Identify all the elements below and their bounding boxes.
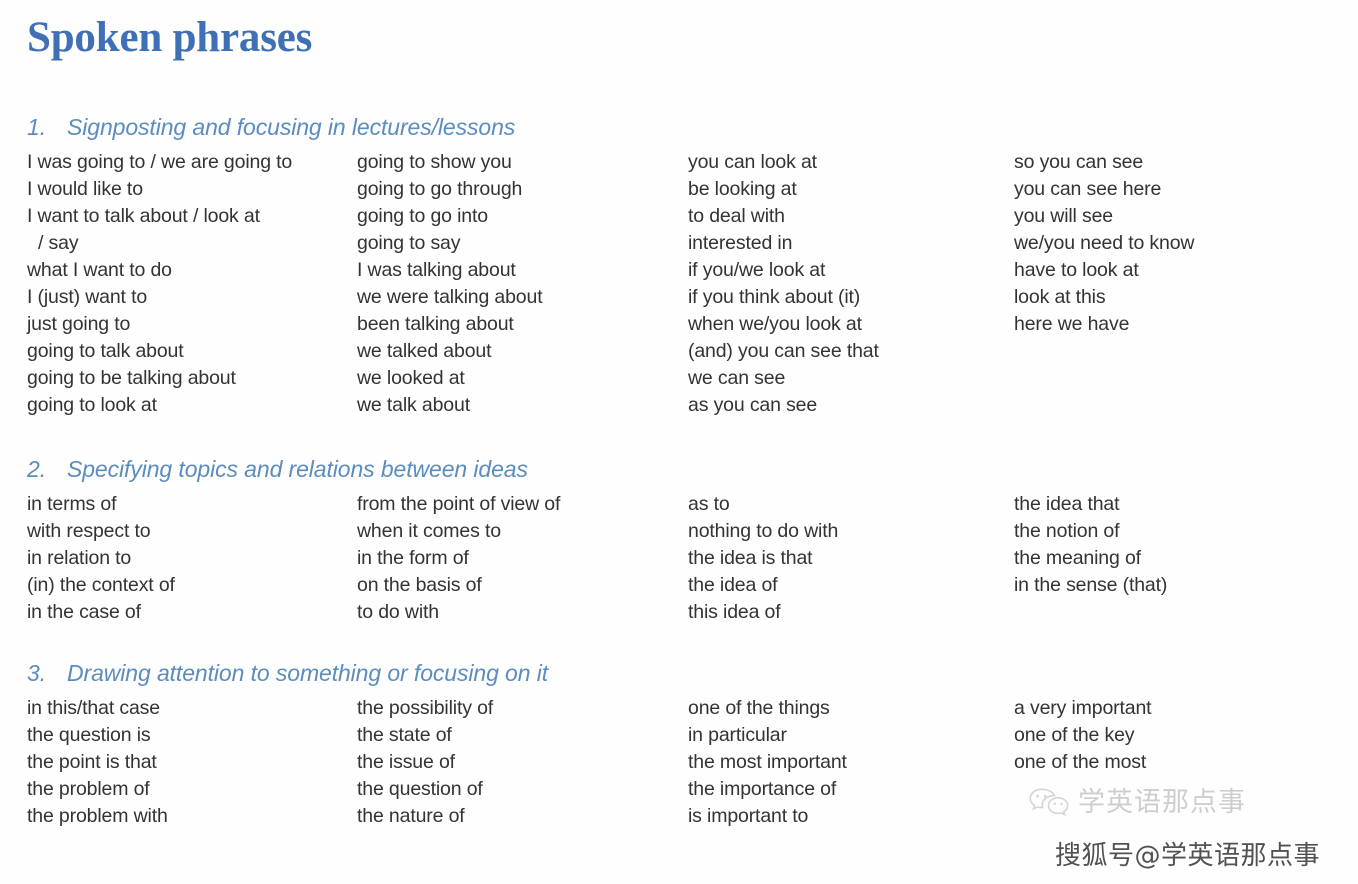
phrase-item: going to say xyxy=(357,230,542,257)
phrase-item: the issue of xyxy=(357,749,493,776)
phrase-column-1: in terms ofwith respect toin relation to… xyxy=(27,491,175,626)
phrase-item: the state of xyxy=(357,722,493,749)
phrase-item: the idea that xyxy=(1014,491,1167,518)
phrase-item: from the point of view of xyxy=(357,491,560,518)
phrase-item: the possibility of xyxy=(357,695,493,722)
phrase-column-3: as tonothing to do withthe idea is thatt… xyxy=(688,491,838,626)
phrase-item: in terms of xyxy=(27,491,175,518)
phrase-item: a very important xyxy=(1014,695,1151,722)
phrase-item: in relation to xyxy=(27,545,175,572)
phrase-item: if you think about (it) xyxy=(688,284,879,311)
phrase-item: so you can see xyxy=(1014,149,1194,176)
phrase-item: we were talking about xyxy=(357,284,542,311)
phrase-item: what I want to do xyxy=(27,257,292,284)
phrase-item: in the sense (that) xyxy=(1014,572,1167,599)
phrase-item: the question is xyxy=(27,722,168,749)
phrase-item: the nature of xyxy=(357,803,493,830)
phrase-item: going to go into xyxy=(357,203,542,230)
section-number: 3. xyxy=(27,659,67,687)
phrase-item: in particular xyxy=(688,722,847,749)
phrase-item: if you/we look at xyxy=(688,257,879,284)
phrase-column-4: the idea thatthe notion ofthe meaning of… xyxy=(1014,491,1167,599)
phrase-item: we talked about xyxy=(357,338,542,365)
phrase-item: going to look at xyxy=(27,392,292,419)
phrase-column-3: you can look atbe looking atto deal with… xyxy=(688,149,879,419)
section-title: Drawing attention to something or focusi… xyxy=(67,659,548,687)
phrase-item: is important to xyxy=(688,803,847,830)
page-title: Spoken phrases xyxy=(27,14,312,62)
phrase-item: I was talking about xyxy=(357,257,542,284)
phrase-item: I (just) want to xyxy=(27,284,292,311)
section-number: 2. xyxy=(27,455,67,483)
phrase-column-2: from the point of view ofwhen it comes t… xyxy=(357,491,560,626)
phrase-column-1: in this/that casethe question isthe poin… xyxy=(27,695,168,830)
phrase-column-4: so you can seeyou can see hereyou will s… xyxy=(1014,149,1194,338)
section-title: Signposting and focusing in lectures/les… xyxy=(67,113,515,141)
phrase-item: the idea is that xyxy=(688,545,838,572)
phrase-item: just going to xyxy=(27,311,292,338)
wechat-account-name: 学英语那点事 xyxy=(1078,788,1246,818)
sohu-watermark: 搜狐号@学英语那点事 xyxy=(1055,840,1320,872)
phrase-item: we can see xyxy=(688,365,879,392)
phrase-item: the idea of xyxy=(688,572,838,599)
section-number: 1. xyxy=(27,113,67,141)
wechat-watermark: 学英语那点事 xyxy=(1028,786,1246,820)
phrase-item: as you can see xyxy=(688,392,879,419)
phrase-item: going to show you xyxy=(357,149,542,176)
phrase-item: one of the key xyxy=(1014,722,1151,749)
phrase-item: going to be talking about xyxy=(27,365,292,392)
phrase-item: interested in xyxy=(688,230,879,257)
phrase-item: to do with xyxy=(357,599,560,626)
phrase-item: be looking at xyxy=(688,176,879,203)
phrase-column-3: one of the thingsin particularthe most i… xyxy=(688,695,847,830)
phrase-item: you can look at xyxy=(688,149,879,176)
section-heading: 3.Drawing attention to something or focu… xyxy=(27,659,548,687)
phrase-item: one of the things xyxy=(688,695,847,722)
phrase-item: one of the most xyxy=(1014,749,1151,776)
section-heading: 1.Signposting and focusing in lectures/l… xyxy=(27,113,515,141)
phrase-item: as to xyxy=(688,491,838,518)
phrase-item: look at this xyxy=(1014,284,1194,311)
phrase-item: been talking about xyxy=(357,311,542,338)
phrase-item: I want to talk about / look at xyxy=(27,203,292,230)
phrase-item: the question of xyxy=(357,776,493,803)
phrase-item: with respect to xyxy=(27,518,175,545)
phrase-item: (in) the context of xyxy=(27,572,175,599)
phrase-item: here we have xyxy=(1014,311,1194,338)
slide-page: Spoken phrases 1.Signposting and focusin… xyxy=(0,0,1358,884)
phrase-item: this idea of xyxy=(688,599,838,626)
phrase-item: going to go through xyxy=(357,176,542,203)
phrase-item: when we/you look at xyxy=(688,311,879,338)
phrase-item: the problem of xyxy=(27,776,168,803)
phrase-item: when it comes to xyxy=(357,518,560,545)
phrase-item: in this/that case xyxy=(27,695,168,722)
phrase-item: the notion of xyxy=(1014,518,1167,545)
phrase-item: in the form of xyxy=(357,545,560,572)
phrase-item: you will see xyxy=(1014,203,1194,230)
phrase-item: the meaning of xyxy=(1014,545,1167,572)
phrase-item: we looked at xyxy=(357,365,542,392)
phrase-item: we/you need to know xyxy=(1014,230,1194,257)
section-title: Specifying topics and relations between … xyxy=(67,455,528,483)
wechat-logo-icon xyxy=(1028,786,1070,820)
phrase-item: / say xyxy=(27,230,292,257)
phrase-item: I was going to / we are going to xyxy=(27,149,292,176)
phrase-item: (and) you can see that xyxy=(688,338,879,365)
phrase-item: the importance of xyxy=(688,776,847,803)
phrase-column-1: I was going to / we are going toI would … xyxy=(27,149,292,419)
phrase-item: we talk about xyxy=(357,392,542,419)
phrase-item: the most important xyxy=(688,749,847,776)
section-heading: 2.Specifying topics and relations betwee… xyxy=(27,455,528,483)
phrase-item: have to look at xyxy=(1014,257,1194,284)
phrase-item: I would like to xyxy=(27,176,292,203)
phrase-column-2: the possibility ofthe state ofthe issue … xyxy=(357,695,493,830)
phrase-column-2: going to show yougoing to go throughgoin… xyxy=(357,149,542,419)
phrase-item: the point is that xyxy=(27,749,168,776)
phrase-item: you can see here xyxy=(1014,176,1194,203)
phrase-item: the problem with xyxy=(27,803,168,830)
phrase-item: going to talk about xyxy=(27,338,292,365)
phrase-column-4: a very importantone of the keyone of the… xyxy=(1014,695,1151,776)
phrase-item: on the basis of xyxy=(357,572,560,599)
phrase-item: nothing to do with xyxy=(688,518,838,545)
phrase-item: in the case of xyxy=(27,599,175,626)
phrase-item: to deal with xyxy=(688,203,879,230)
